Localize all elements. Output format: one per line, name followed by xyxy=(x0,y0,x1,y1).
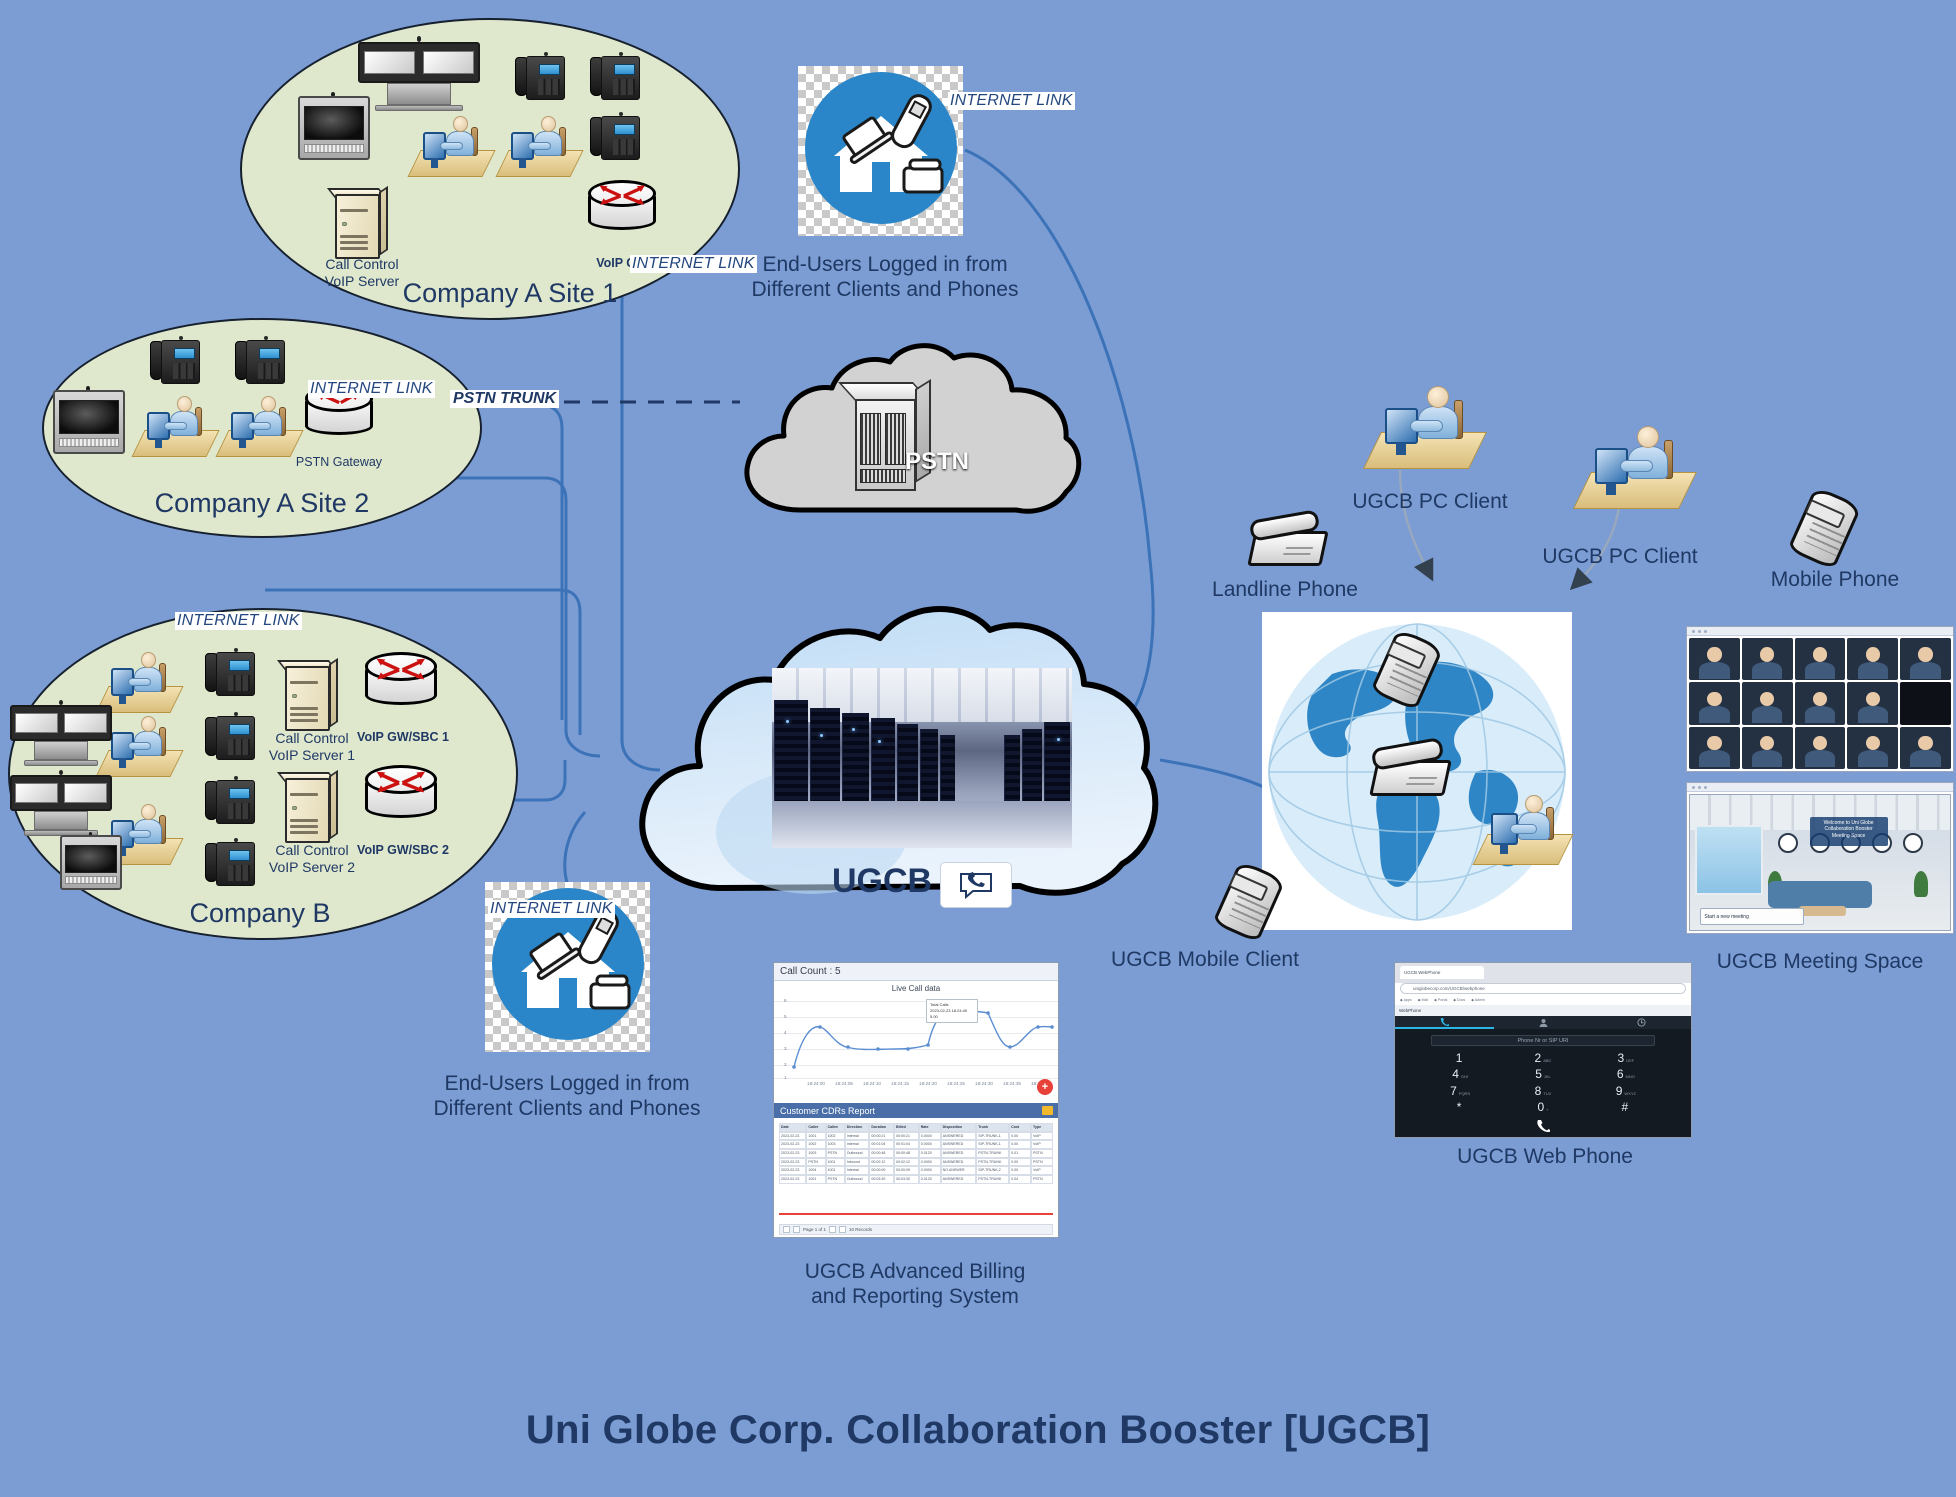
table-cell: Inbound xyxy=(845,1158,870,1167)
table-cell: PSTN xyxy=(1031,1149,1053,1158)
table-cell: ANSWERED xyxy=(941,1132,977,1141)
table-cell: 1001 xyxy=(806,1132,825,1141)
table-cell: 0.00 xyxy=(1009,1166,1031,1175)
chart-title: Live Call data xyxy=(774,984,1058,993)
device-label-voip-gw-sbc-1: VoIP GW/SBC 1 xyxy=(348,730,458,745)
device-label-line2: VoIP Server 2 xyxy=(242,859,382,876)
table-cell: 0.0000 xyxy=(919,1166,941,1175)
table-cell: 0.0000 xyxy=(919,1158,941,1167)
dial-key-0[interactable]: 0+ xyxy=(1502,1100,1585,1116)
call-control-server xyxy=(330,188,392,262)
ugcb-web-phone-label: UGCB Web Phone xyxy=(1400,1145,1690,1170)
table-cell: Outbound xyxy=(845,1175,870,1184)
dial-key-digit: 5 xyxy=(1535,1067,1542,1081)
video-endpoint-single xyxy=(53,386,125,454)
table-cell: 00:01:04 xyxy=(869,1140,894,1149)
dial-key-7[interactable]: 7PQRS xyxy=(1419,1084,1502,1100)
table-cell: 0.0000 xyxy=(919,1140,941,1149)
ip-phone xyxy=(205,648,255,700)
bookmarks-bar: ◆ Apps ◆ Mail ◆ Portal ◆ Docs ◆ Admin xyxy=(1400,996,1686,1004)
x-tick: 18:24:30 xyxy=(975,1081,993,1086)
dial-key-digit: 1 xyxy=(1456,1051,1463,1065)
ugcb-pc-client-2-worker xyxy=(1580,420,1690,512)
ip-phone xyxy=(205,776,255,828)
end-users-bottom-line2: Different Clients and Phones xyxy=(422,1097,712,1122)
table-cell: ANSWERED xyxy=(941,1175,977,1184)
table-cell: 00:00:09 xyxy=(894,1166,919,1175)
meeting-space-start-button[interactable]: Start a new meeting xyxy=(1700,908,1804,924)
datacenter-photo xyxy=(772,668,1072,848)
ugcb-meeting-space-label: UGCB Meeting Space xyxy=(1700,950,1940,975)
video-endpoint-dual xyxy=(10,698,112,770)
bookmark-item[interactable]: ◆ Portal xyxy=(1434,998,1447,1002)
table-cell: 0.0120 xyxy=(919,1175,941,1184)
table-row[interactable]: 2023-02-231001PSTNOutbound00:03:3000:03:… xyxy=(779,1175,1053,1184)
x-tick: 18:24:00 xyxy=(807,1081,825,1086)
table-cell: 00:02:12 xyxy=(894,1158,919,1167)
dial-key-*[interactable]: * xyxy=(1419,1100,1502,1116)
router-arrows-icon xyxy=(372,656,430,682)
end-users-top-line1: End-Users Logged in from xyxy=(740,253,1030,278)
table-cell: Internal xyxy=(845,1166,870,1175)
table-cell: PSTN xyxy=(1031,1158,1053,1167)
table-row[interactable]: 2023-02-231003PSTNOutbound00:00:4800:00:… xyxy=(779,1149,1053,1158)
table-cell: 00:00:48 xyxy=(894,1149,919,1158)
pager-label: Page 1 of 1 xyxy=(803,1227,826,1232)
desk-worker xyxy=(1478,790,1568,868)
dial-key-letters: PQRS xyxy=(1459,1091,1470,1096)
participant-tile xyxy=(1689,727,1740,769)
x-tick: 18:24:25 xyxy=(947,1081,965,1086)
dial-key-8[interactable]: 8TUV xyxy=(1502,1084,1585,1100)
desk-worker xyxy=(412,112,490,180)
home-devices-icon xyxy=(818,86,944,212)
phone-icon xyxy=(1440,1017,1449,1026)
landline-phone-icon xyxy=(1248,510,1328,572)
dial-key-letters: TUV xyxy=(1543,1091,1551,1096)
table-cell: 0.0120 xyxy=(919,1149,941,1158)
site-title-company-b: Company B xyxy=(130,898,390,930)
site-title-company-a-site-2: Company A Site 2 xyxy=(102,488,422,520)
ugcb-billing-screenshot: Call Count : 5 Live Call data 6 5 4 3 2 … xyxy=(773,962,1059,1238)
desk-worker xyxy=(500,112,578,180)
voip-gw-sbc-2-router xyxy=(365,765,437,827)
dial-key-6[interactable]: 6MNO xyxy=(1584,1067,1667,1083)
call-control-server-1 xyxy=(280,660,342,734)
billing-label-line2: and Reporting System xyxy=(750,1285,1080,1310)
table-cell: 1002 xyxy=(806,1140,825,1149)
table-cell: 1001 xyxy=(826,1158,845,1167)
diagram-canvas: Call Control VoIP Server VoIP GW Company… xyxy=(0,0,1956,1497)
table-cell: 1003 xyxy=(826,1140,845,1149)
table-row[interactable]: 2023-02-2310011002Internal00:00:2100:00:… xyxy=(779,1132,1053,1141)
cdr-total-row xyxy=(779,1213,1053,1222)
tab-dialpad[interactable] xyxy=(1395,1016,1494,1029)
table-cell: 2023-02-23 xyxy=(779,1149,806,1158)
table-cell: 00:03:30 xyxy=(869,1175,894,1184)
dial-key-digit: 4 xyxy=(1452,1067,1459,1081)
table-cell: 0.00 xyxy=(1009,1140,1031,1149)
table-cell: 00:00:09 xyxy=(869,1166,894,1175)
chart-tooltip: Total Calls 2023-02-23 18:24:40 5.00 xyxy=(926,999,978,1023)
participant-tile xyxy=(1795,727,1846,769)
dial-key-letters: MNO xyxy=(1626,1074,1635,1079)
dial-key-1[interactable]: 1 xyxy=(1419,1051,1502,1067)
ip-phone xyxy=(515,52,565,104)
ugcb-billing-label: UGCB Advanced Billing and Reporting Syst… xyxy=(750,1260,1080,1310)
pager-prev[interactable] xyxy=(793,1226,800,1233)
participant-tile xyxy=(1742,682,1793,724)
end-users-top-label: End-Users Logged in from Different Clien… xyxy=(740,253,1030,303)
participant-tile xyxy=(1900,727,1951,769)
browser-url-bar[interactable]: uniglobecorp.com/UGCB/webphone xyxy=(1400,983,1686,994)
table-header-row: Date Caller Callee Direction Duration Bi… xyxy=(779,1123,1053,1132)
table-cell: 1001 xyxy=(826,1166,845,1175)
dial-key-digit: 7 xyxy=(1450,1084,1457,1098)
ugcb-phone-chip xyxy=(940,862,1012,908)
table-cell: VoIP xyxy=(1031,1132,1053,1141)
webphone-tabs xyxy=(1395,1016,1691,1029)
bookmark-item[interactable]: ◆ Admin xyxy=(1471,998,1485,1002)
end-users-bottom-line1: End-Users Logged in from xyxy=(422,1072,712,1097)
device-label-line2: VoIP Server 1 xyxy=(242,747,382,764)
x-tick: 18:24:15 xyxy=(891,1081,909,1086)
table-cell: 2023-02-23 xyxy=(779,1158,806,1167)
phone-message-icon xyxy=(959,871,993,899)
table-cell: VoIP xyxy=(1031,1166,1053,1175)
table-cell: 2023-02-23 xyxy=(779,1166,806,1175)
table-cell: PSTN xyxy=(1031,1175,1053,1184)
tab-history[interactable] xyxy=(1592,1016,1691,1029)
dial-key-letters: ABC xyxy=(1543,1058,1551,1063)
pager-first[interactable] xyxy=(783,1226,790,1233)
table-cell: 0.04 xyxy=(1009,1175,1031,1184)
bookmark-item[interactable]: ◆ Docs xyxy=(1453,998,1465,1002)
desk-worker xyxy=(220,392,298,460)
webphone-app-title: WebPhone xyxy=(1395,1005,1691,1016)
dial-key-digit: * xyxy=(1457,1100,1462,1114)
internet-link-label-company-b: INTERNET LINK xyxy=(175,612,302,630)
participant-tile xyxy=(1689,682,1740,724)
device-label-line1: Call Control xyxy=(292,256,432,273)
home-devices-icon xyxy=(505,902,631,1028)
bookmark-item[interactable]: ◆ Mail xyxy=(1418,998,1428,1002)
table-cell: 2023-02-23 xyxy=(779,1140,806,1149)
cdr-report-title: Customer CDRs Report xyxy=(774,1103,1058,1118)
pager-last[interactable] xyxy=(839,1226,846,1233)
dial-key-digit: # xyxy=(1622,1100,1629,1114)
voip-gw-sbc-1-router xyxy=(365,652,437,714)
table-cell: 1004 xyxy=(806,1166,825,1175)
participant-tile xyxy=(1795,682,1846,724)
table-cell: 00:00:21 xyxy=(894,1132,919,1141)
dial-key-3[interactable]: 3DEF xyxy=(1584,1051,1667,1067)
table-cell: 1002 xyxy=(826,1132,845,1141)
table-cell: ANSWERED xyxy=(941,1149,977,1158)
bookmark-item[interactable]: ◆ Apps xyxy=(1400,998,1412,1002)
table-cell: 00:03:30 xyxy=(894,1175,919,1184)
dial-key-digit: 2 xyxy=(1535,1051,1542,1065)
participant-tile xyxy=(1900,682,1951,724)
table-cell: 2023-02-23 xyxy=(779,1132,806,1141)
x-tick: 18:24:35 xyxy=(1003,1081,1021,1086)
table-cell: 1003 xyxy=(806,1149,825,1158)
page-title: Uni Globe Corp. Collaboration Booster [U… xyxy=(0,1408,1956,1453)
site-title-company-a-site-1: Company A Site 1 xyxy=(350,278,670,310)
contacts-icon xyxy=(1539,1018,1548,1027)
billing-call-count-header: Call Count : 5 xyxy=(774,963,1058,981)
internet-link-label-site-2: INTERNET LINK xyxy=(308,380,435,398)
dial-key-2[interactable]: 2ABC xyxy=(1502,1051,1585,1067)
call-control-server-2 xyxy=(280,772,342,846)
table-cell: 00:00:21 xyxy=(869,1132,894,1141)
table-cell: PSTN-TRUNK xyxy=(976,1175,1009,1184)
mobile-phone-icon xyxy=(1210,862,1288,940)
end-users-bottom-label: End-Users Logged in from Different Clien… xyxy=(422,1072,712,1122)
banner-line1: Welcome to Uni Globe xyxy=(1813,820,1885,827)
dial-input[interactable]: Phone Nr or SIP URI xyxy=(1431,1035,1656,1046)
table-row[interactable]: 2023-02-2310021003Internal00:01:0400:01:… xyxy=(779,1140,1053,1149)
table-cell: PSTN xyxy=(806,1158,825,1167)
table-cell: 0.00 xyxy=(1009,1132,1031,1141)
dial-key-letters: GHI xyxy=(1461,1074,1468,1079)
live-call-chart: Live Call data 6 5 4 3 2 1 xyxy=(774,981,1058,1095)
cdr-report-title-text: Customer CDRs Report xyxy=(780,1106,875,1116)
ugcb-pc-client-1-label: UGCB PC Client xyxy=(1330,490,1530,515)
pager-next[interactable] xyxy=(829,1226,836,1233)
table-cell: 0.00 xyxy=(1009,1158,1031,1167)
mobile-phone-label: Mobile Phone xyxy=(1740,568,1930,593)
participant-tile xyxy=(1847,682,1898,724)
internet-link-label-site-1: INTERNET LINK xyxy=(630,255,757,273)
participant-tile xyxy=(1900,638,1951,680)
dial-key-letters: + xyxy=(1546,1107,1548,1112)
table-cell: 0.01 xyxy=(1009,1149,1031,1158)
ugcb-mobile-client-label: UGCB Mobile Client xyxy=(1040,948,1370,973)
pstn-trunk-label: PSTN TRUNK xyxy=(450,390,559,408)
internet-link-label-bottom-endusers: INTERNET LINK xyxy=(488,900,615,918)
ip-phone xyxy=(235,336,285,388)
dial-key-4[interactable]: 4GHI xyxy=(1419,1067,1502,1083)
table-cell: 0.0000 xyxy=(919,1132,941,1141)
banner-line3: Meeting Space xyxy=(1813,833,1885,840)
table-cell: SIP-TRUNK-2 xyxy=(976,1166,1009,1175)
video-endpoint-dual xyxy=(10,768,112,840)
dial-key-letters: WXYZ xyxy=(1624,1091,1636,1096)
dial-key-digit: 8 xyxy=(1535,1084,1542,1098)
add-record-button[interactable]: + xyxy=(1037,1079,1053,1095)
table-cell: NO ANSWER xyxy=(941,1166,977,1175)
table-cell: ANSWERED xyxy=(941,1140,977,1149)
pstn-cloud-label: PSTN xyxy=(905,448,969,476)
table-cell: PSTN xyxy=(826,1175,845,1184)
table-row[interactable]: 2023-02-2310041001Internal00:00:0900:00:… xyxy=(779,1166,1053,1175)
table-row[interactable]: 2023-02-23PSTN1001Inbound00:02:1200:02:1… xyxy=(779,1158,1053,1167)
table-cell: 00:00:48 xyxy=(869,1149,894,1158)
x-tick: 18:24:05 xyxy=(835,1081,853,1086)
pager-count: 10 Records xyxy=(849,1227,872,1232)
dial-key-digit: 0 xyxy=(1537,1100,1544,1114)
dial-key-digit: 3 xyxy=(1618,1051,1625,1065)
table-cell: SIP-TRUNK-1 xyxy=(976,1132,1009,1141)
ugcb-meeting-space-screenshot: Welcome to Uni Globe Collaboration Boost… xyxy=(1686,782,1954,934)
dial-key-digit: 6 xyxy=(1617,1067,1624,1081)
ip-phone xyxy=(150,336,200,388)
banner-line2: Collaboration Booster xyxy=(1813,826,1885,833)
mobile-phone-icon xyxy=(1785,488,1865,568)
billing-label-line1: UGCB Advanced Billing xyxy=(750,1260,1080,1285)
cdr-table: Date Caller Callee Direction Duration Bi… xyxy=(779,1123,1053,1184)
landline-phone-icon xyxy=(1370,738,1452,802)
desk-worker xyxy=(136,392,214,460)
table-cell: PSTN-TRUNK xyxy=(976,1158,1009,1167)
router-arrows-icon xyxy=(372,769,430,795)
table-cell: 00:01:04 xyxy=(894,1140,919,1149)
export-xls-button[interactable] xyxy=(1042,1106,1053,1115)
dial-key-letters: JKL xyxy=(1544,1074,1551,1079)
dial-key-#[interactable]: # xyxy=(1584,1100,1667,1116)
table-cell: PSTN-TRUNK xyxy=(976,1149,1009,1158)
device-label-pstn-gateway: PSTN Gateway xyxy=(289,455,389,470)
ugcb-pc-client-1-worker xyxy=(1370,380,1480,472)
table-cell: Internal xyxy=(845,1132,870,1141)
chart-line-series xyxy=(792,995,1054,1081)
ugcb-pc-client-2-label: UGCB PC Client xyxy=(1515,545,1725,570)
pstn-server-icon xyxy=(845,382,941,500)
table-cell: ANSWERED xyxy=(941,1158,977,1167)
dial-key-letters: DEF xyxy=(1626,1058,1634,1063)
ugcb-cloud-label: UGCB xyxy=(832,862,932,901)
meeting-space-banner: Welcome to Uni Globe Collaboration Boost… xyxy=(1810,817,1888,847)
clock-icon xyxy=(1637,1018,1646,1027)
table-cell: VoIP xyxy=(1031,1140,1053,1149)
ip-phone xyxy=(590,52,640,104)
browser-tab[interactable]: UGCB WebPhone xyxy=(1400,966,1484,979)
cdr-pager[interactable]: Page 1 of 1 10 Records xyxy=(779,1224,1053,1235)
ugcb-meeting-grid-screenshot xyxy=(1686,626,1954,772)
video-endpoint-single xyxy=(60,832,122,890)
landline-phone-label: Landline Phone xyxy=(1185,578,1385,603)
ip-phone xyxy=(590,112,640,164)
dial-key-9[interactable]: 9WXYZ xyxy=(1584,1084,1667,1100)
table-cell: Outbound xyxy=(845,1149,870,1158)
participant-tile xyxy=(1847,638,1898,680)
router-arrows-icon xyxy=(595,183,649,207)
participant-tile xyxy=(1742,638,1793,680)
mobile-phone-icon xyxy=(1368,630,1446,708)
video-endpoint-single xyxy=(298,92,370,160)
table-cell: 2023-02-23 xyxy=(779,1175,806,1184)
table-cell: PSTN xyxy=(826,1149,845,1158)
participant-tile xyxy=(1742,727,1793,769)
table-cell: 00:02:12 xyxy=(869,1158,894,1167)
internet-link-label-top-endusers: INTERNET LINK xyxy=(948,92,1075,110)
dial-key-digit: 9 xyxy=(1616,1084,1623,1098)
dialpad: 12ABC3DEF4GHI5JKL6MNO7PQRS8TUV9WXYZ*0+# xyxy=(1419,1051,1668,1133)
participant-tile xyxy=(1689,638,1740,680)
participant-tile xyxy=(1847,727,1898,769)
tab-contacts[interactable] xyxy=(1494,1016,1593,1029)
call-button[interactable] xyxy=(1502,1117,1585,1133)
voip-gateway-router xyxy=(588,180,656,238)
table-cell: SIP-TRUNK-1 xyxy=(976,1140,1009,1149)
x-tick: 18:24:20 xyxy=(919,1081,937,1086)
x-tick: 18:24:10 xyxy=(863,1081,881,1086)
table-cell: Internal xyxy=(845,1140,870,1149)
device-label-voip-gw-sbc-2: VoIP GW/SBC 2 xyxy=(348,843,458,858)
end-users-top-line2: Different Clients and Phones xyxy=(740,278,1030,303)
table-cell: 1001 xyxy=(806,1175,825,1184)
video-endpoint-dual xyxy=(358,34,480,116)
dial-key-5[interactable]: 5JKL xyxy=(1502,1067,1585,1083)
participant-tile xyxy=(1795,638,1846,680)
ugcb-web-phone-screenshot: UGCB WebPhone uniglobecorp.com/UGCB/webp… xyxy=(1394,962,1692,1138)
